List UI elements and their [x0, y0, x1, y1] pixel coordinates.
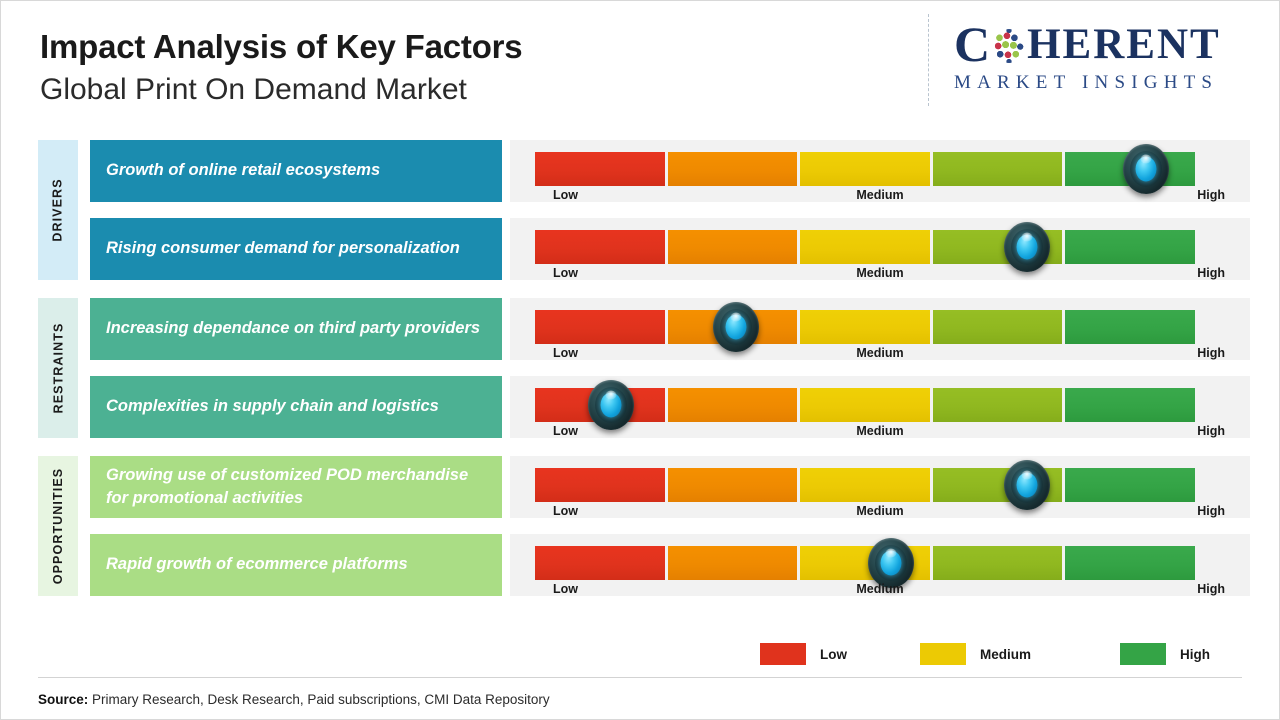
legend-item-medium: Medium — [920, 643, 1031, 665]
factor-box[interactable]: Increasing dependance on third party pro… — [90, 298, 502, 360]
gauge-segment-1 — [535, 310, 665, 344]
source-label: Source: — [38, 692, 88, 707]
factor-box[interactable]: Rising consumer demand for personalizati… — [90, 218, 502, 280]
gauge-segment-1 — [535, 388, 665, 422]
category-tab-opportunities: OPPORTUNITIES — [38, 456, 78, 596]
legend-item-high: High — [1120, 643, 1210, 665]
gauge-scale-labels: LowMediumHigh — [535, 504, 1225, 524]
gauge-segment-4 — [933, 152, 1063, 186]
gauge-scale-labels: LowMediumHigh — [535, 346, 1225, 366]
legend-label: High — [1180, 647, 1210, 662]
category-label: RESTRAINTS — [51, 323, 65, 414]
gauge-segment-3 — [800, 546, 930, 580]
factor-box[interactable]: Growing use of customized POD merchandis… — [90, 456, 502, 518]
legend-swatch-high — [1120, 643, 1166, 665]
dotted-globe-icon — [992, 29, 1026, 63]
category-label: DRIVERS — [51, 178, 65, 241]
scale-label-medium: Medium — [535, 582, 1225, 596]
impact-gauge[interactable]: LowMediumHigh — [510, 298, 1250, 360]
scale-label-high: High — [1197, 504, 1225, 518]
factor-box[interactable]: Rapid growth of ecommerce platforms — [90, 534, 502, 596]
impact-gauge[interactable]: LowMediumHigh — [510, 140, 1250, 202]
legend: LowMediumHigh — [760, 643, 1220, 669]
legend-swatch-medium — [920, 643, 966, 665]
footer-divider — [38, 677, 1242, 678]
factor-label: Rapid growth of ecommerce platforms — [106, 553, 408, 576]
page-title: Impact Analysis of Key Factors — [40, 28, 940, 67]
gauge-track — [535, 152, 1195, 186]
gauge-segment-5 — [1065, 310, 1195, 344]
logo-wordmark-rest: HERENT — [1027, 23, 1221, 66]
gauge-scale-labels: LowMediumHigh — [535, 266, 1225, 286]
gauge-track — [535, 468, 1195, 502]
factor-label: Complexities in supply chain and logisti… — [106, 395, 439, 418]
gauge-segment-5 — [1065, 546, 1195, 580]
gauge-segment-4 — [933, 468, 1063, 502]
source-text: Primary Research, Desk Research, Paid su… — [88, 692, 549, 707]
company-logo: C HERENT MARKET INSIGHTS — [928, 14, 1258, 110]
gauge-segment-2 — [668, 230, 798, 264]
scale-label-high: High — [1197, 424, 1225, 438]
scale-label-medium: Medium — [535, 424, 1225, 438]
legend-label: Low — [820, 647, 847, 662]
factor-box[interactable]: Complexities in supply chain and logisti… — [90, 376, 502, 438]
legend-item-low: Low — [760, 643, 847, 665]
scale-label-medium: Medium — [535, 504, 1225, 518]
legend-swatch-low — [760, 643, 806, 665]
gauge-segment-4 — [933, 388, 1063, 422]
gauge-segment-2 — [668, 152, 798, 186]
impact-gauge[interactable]: LowMediumHigh — [510, 456, 1250, 518]
gauge-scale-labels: LowMediumHigh — [535, 424, 1225, 444]
gauge-segment-4 — [933, 310, 1063, 344]
gauge-segment-3 — [800, 310, 930, 344]
page-header: Impact Analysis of Key Factors Global Pr… — [40, 28, 940, 108]
gauge-segment-2 — [668, 388, 798, 422]
gauge-segment-5 — [1065, 152, 1195, 186]
gauge-scale-labels: LowMediumHigh — [535, 188, 1225, 208]
factor-label: Growing use of customized POD merchandis… — [106, 464, 486, 511]
gauge-segment-2 — [668, 546, 798, 580]
gauge-track — [535, 230, 1195, 264]
gauge-segment-4 — [933, 546, 1063, 580]
gauge-track — [535, 388, 1195, 422]
gauge-segment-1 — [535, 546, 665, 580]
logo-tagline: MARKET INSIGHTS — [954, 72, 1254, 94]
scale-label-high: High — [1197, 346, 1225, 360]
source-note: Source: Primary Research, Desk Research,… — [38, 692, 550, 707]
gauge-segment-3 — [800, 152, 930, 186]
gauge-segment-5 — [1065, 388, 1195, 422]
impact-gauge[interactable]: LowMediumHigh — [510, 376, 1250, 438]
logo-wordmark: C HERENT — [954, 20, 1254, 68]
scale-label-high: High — [1197, 266, 1225, 280]
scale-label-medium: Medium — [535, 346, 1225, 360]
gauge-scale-labels: LowMediumHigh — [535, 582, 1225, 602]
category-label: OPPORTUNITIES — [51, 468, 65, 584]
logo-divider — [928, 14, 929, 106]
factor-label: Increasing dependance on third party pro… — [106, 317, 480, 340]
logo-letter-c: C — [954, 19, 991, 69]
category-tab-drivers: DRIVERS — [38, 140, 78, 280]
gauge-segment-2 — [668, 310, 798, 344]
impact-matrix: DRIVERSGrowth of online retail ecosystem… — [0, 140, 1280, 610]
gauge-segment-2 — [668, 468, 798, 502]
gauge-segment-5 — [1065, 230, 1195, 264]
factor-label: Growth of online retail ecosystems — [106, 159, 380, 182]
category-tab-restraints: RESTRAINTS — [38, 298, 78, 438]
gauge-segment-1 — [535, 152, 665, 186]
gauge-segment-3 — [800, 468, 930, 502]
gauge-segment-4 — [933, 230, 1063, 264]
gauge-segment-3 — [800, 388, 930, 422]
gauge-segment-5 — [1065, 468, 1195, 502]
legend-label: Medium — [980, 647, 1031, 662]
gauge-segment-1 — [535, 230, 665, 264]
scale-label-medium: Medium — [535, 266, 1225, 280]
gauge-track — [535, 310, 1195, 344]
gauge-segment-3 — [800, 230, 930, 264]
scale-label-high: High — [1197, 188, 1225, 202]
page-subtitle: Global Print On Demand Market — [40, 71, 940, 109]
factor-label: Rising consumer demand for personalizati… — [106, 237, 460, 260]
gauge-track — [535, 546, 1195, 580]
scale-label-medium: Medium — [535, 188, 1225, 202]
gauge-segment-1 — [535, 468, 665, 502]
impact-gauge[interactable]: LowMediumHigh — [510, 534, 1250, 596]
factor-box[interactable]: Growth of online retail ecosystems — [90, 140, 502, 202]
impact-gauge[interactable]: LowMediumHigh — [510, 218, 1250, 280]
scale-label-high: High — [1197, 582, 1225, 596]
